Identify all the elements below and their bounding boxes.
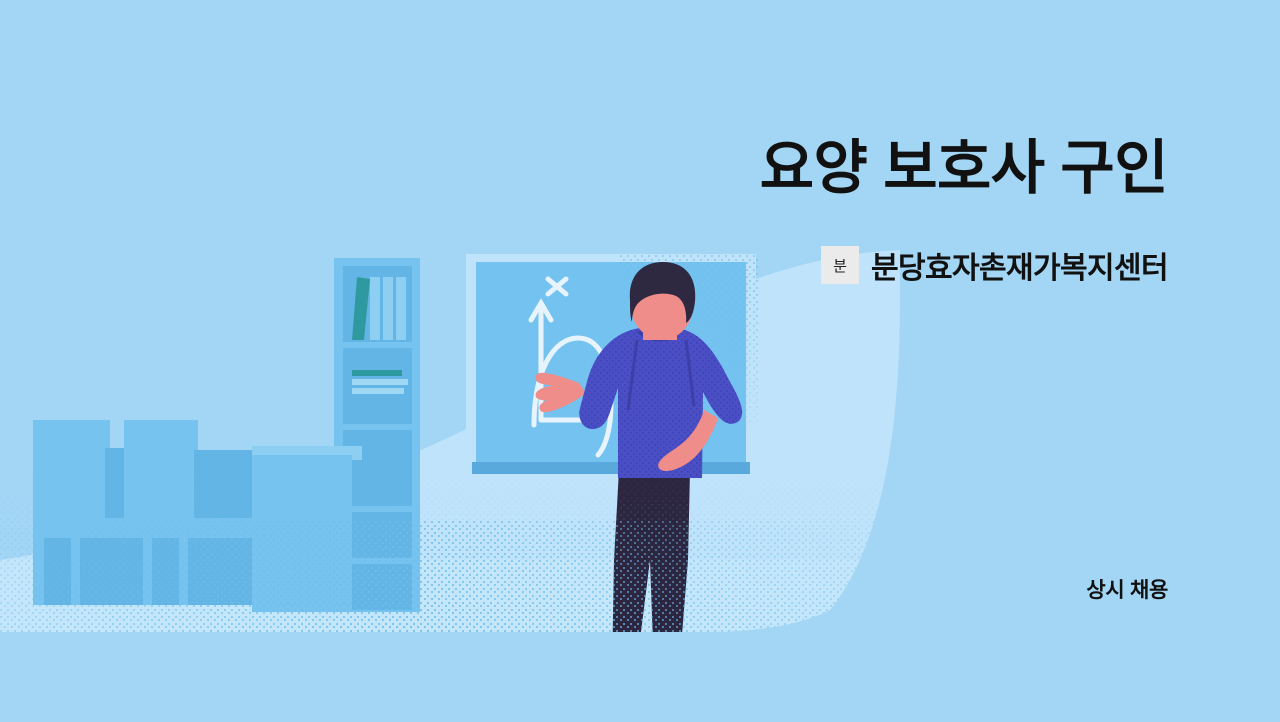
page-title: 요양 보호사 구인: [760, 134, 1168, 204]
books-upright: [352, 277, 406, 340]
illustration-svg: [0, 0, 900, 722]
books-stacked: [352, 370, 408, 394]
illustration-panel: [0, 0, 900, 722]
employment-type-label: 상시 채용: [1086, 574, 1168, 604]
job-posting-banner: 요양 보호사 구인 분 분당효자촌재가복지센터 상시 채용: [0, 0, 1280, 722]
company-name: 분당효자촌재가복지센터: [871, 243, 1168, 287]
floor-speckle-soft: [0, 470, 900, 635]
company-logo: 분: [821, 246, 859, 284]
company-row[interactable]: 분 분당효자촌재가복지센터: [821, 243, 1168, 287]
illustration-area: [0, 0, 900, 722]
